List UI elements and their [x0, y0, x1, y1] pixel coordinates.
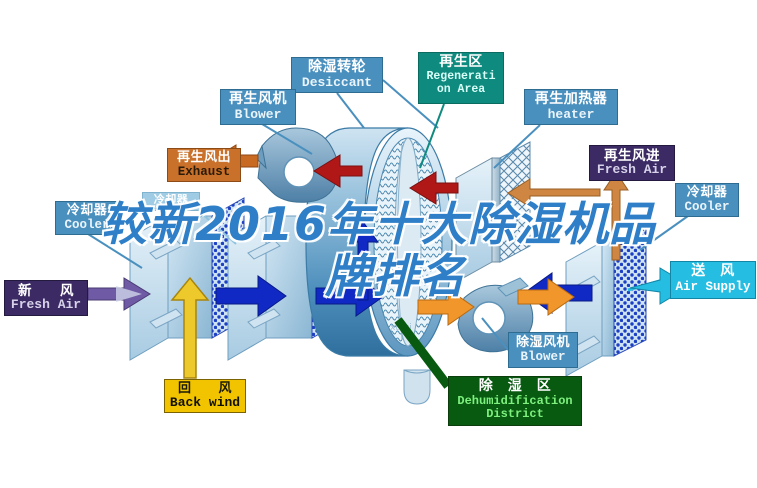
label-regeneration-blower[interactable]: 再生风机 Blower	[220, 89, 296, 125]
label-regeneration-exhaust-en: Exhaust	[168, 165, 240, 179]
label-dehumidification-district[interactable]: 除 湿 区 Dehumidification District	[448, 376, 582, 426]
label-cooler-right-en: Cooler	[676, 200, 738, 214]
label-regeneration-blower-cn: 再生风机	[221, 92, 295, 108]
label-regeneration-exhaust-cn: 再生风出	[168, 150, 240, 165]
label-cooler-left[interactable]: 冷却器 Cooler	[55, 201, 119, 235]
label-fresh-air-cn: 新 风	[5, 283, 87, 298]
label-air-supply-cn: 送 风	[671, 264, 755, 280]
heater-coil	[456, 142, 530, 282]
label-cooler-middle[interactable]: 冷却器	[142, 192, 200, 211]
label-regeneration-area-en-2: on Area	[419, 84, 503, 97]
label-regeneration-heater[interactable]: 再生加热器 heater	[524, 89, 618, 125]
label-regeneration-blower-en: Blower	[221, 108, 295, 123]
label-cooler-left-cn: 冷却器	[56, 203, 118, 218]
label-dehumidification-district-en-2: District	[449, 408, 581, 421]
label-cooler-left-en: Cooler	[56, 218, 118, 232]
label-regeneration-area-en-1: Regenerati	[419, 71, 503, 84]
label-regeneration-fresh-air-en: Fresh Air	[590, 163, 674, 178]
label-air-supply[interactable]: 送 风 Air Supply	[670, 261, 756, 299]
label-regeneration-area-cn: 再生区	[419, 55, 503, 71]
label-regeneration-heater-cn: 再生加热器	[525, 92, 617, 108]
label-dehumidification-blower[interactable]: 除湿风机 Blower	[508, 332, 578, 368]
label-regeneration-fresh-air[interactable]: 再生风进 Fresh Air	[589, 145, 675, 181]
label-regeneration-exhaust[interactable]: 再生风出 Exhaust	[167, 148, 241, 182]
label-desiccant-rotor-en: Desiccant	[292, 76, 382, 91]
label-fresh-air-en: Fresh Air	[5, 298, 87, 313]
label-dehumidification-blower-en: Blower	[509, 350, 577, 364]
label-desiccant-rotor[interactable]: 除湿转轮 Desiccant	[291, 57, 383, 93]
label-cooler-right-cn: 冷却器	[676, 185, 738, 200]
label-fresh-air[interactable]: 新 风 Fresh Air	[4, 280, 88, 316]
label-dehumidification-district-cn: 除 湿 区	[449, 379, 581, 395]
label-cooler-middle-cn: 冷却器	[143, 194, 199, 206]
label-back-wind-cn: 回 风	[165, 381, 245, 396]
label-air-supply-en: Air Supply	[671, 280, 755, 294]
label-cooler-right[interactable]: 冷却器 Cooler	[675, 183, 739, 217]
label-regeneration-heater-en: heater	[525, 108, 617, 123]
drain-tray	[404, 370, 430, 404]
label-back-wind-en: Back wind	[165, 396, 245, 411]
label-desiccant-rotor-cn: 除湿转轮	[292, 60, 382, 76]
diagram-canvas: xtdsj	[0, 0, 757, 488]
label-regeneration-fresh-air-cn: 再生风进	[590, 148, 674, 163]
label-dehumidification-blower-cn: 除湿风机	[509, 335, 577, 350]
label-dehumidification-district-en-1: Dehumidification	[449, 395, 581, 408]
label-regeneration-area[interactable]: 再生区 Regenerati on Area	[418, 52, 504, 104]
label-back-wind[interactable]: 回 风 Back wind	[164, 379, 246, 413]
